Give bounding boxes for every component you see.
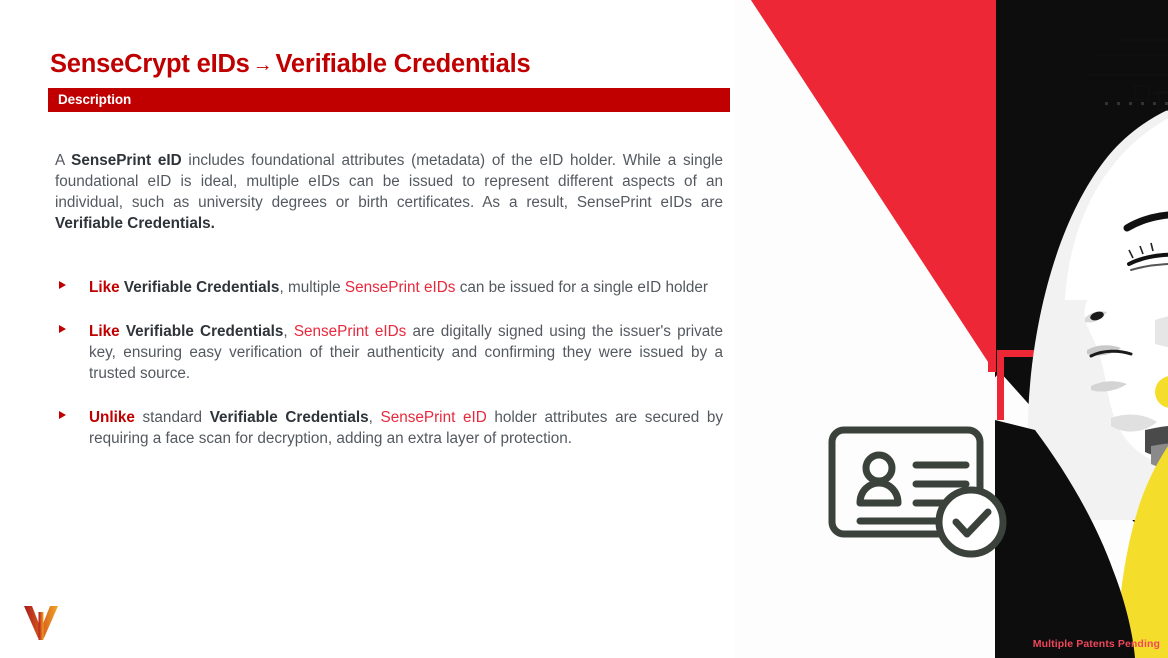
- bullet-brand-term: SensePrint eIDs: [294, 323, 406, 340]
- para-seg-1: A: [55, 152, 71, 169]
- content-area: SenseCrypt eIDs→Verifiable Credentials D…: [0, 0, 735, 658]
- bullet-brand-term: SensePrint eID: [381, 409, 487, 426]
- description-paragraph: A SensePrint eID includes foundational a…: [55, 150, 723, 234]
- patents-pending-note: Multiple Patents Pending: [1033, 638, 1160, 650]
- red-accent-stripe: [988, 0, 996, 372]
- bullet-seg-3: can be issued for a single eID holder: [455, 279, 708, 296]
- bullet-seg-2: , multiple: [279, 279, 344, 296]
- bullet-seg-1: standard: [135, 409, 210, 426]
- bullet-bold-1: Verifiable Credentials: [124, 279, 280, 296]
- list-item: Like Verifiable Credentials, multiple Se…: [55, 277, 723, 298]
- section-header-bar: Description: [48, 88, 730, 112]
- para-bold-1: SensePrint eID: [71, 152, 182, 169]
- brand-logo-icon: [20, 602, 62, 642]
- arrow-icon: →: [250, 54, 276, 76]
- bullet-keyword: Like: [89, 279, 120, 296]
- bullet-triangle-icon: [59, 325, 66, 333]
- bullet-triangle-icon: [59, 281, 66, 289]
- slide-canvas: SenseCrypt eIDs→Verifiable Credentials D…: [0, 0, 1168, 658]
- bullet-bold-1: Verifiable Credentials: [210, 409, 369, 426]
- bullet-seg-2: ,: [369, 409, 381, 426]
- bullet-bold-1: Verifiable Credentials: [126, 323, 284, 340]
- bullet-triangle-icon: [59, 411, 66, 419]
- page-title-part2: Verifiable Credentials: [275, 50, 530, 78]
- bullet-seg-2: ,: [283, 323, 293, 340]
- list-item: Like Verifiable Credentials, SensePrint …: [55, 321, 723, 384]
- id-card-verified-icon: [826, 420, 1016, 570]
- section-label: Description: [58, 92, 131, 107]
- bullet-list: Like Verifiable Credentials, multiple Se…: [55, 277, 723, 449]
- bullet-keyword: Like: [89, 323, 120, 340]
- para-bold-2: Verifiable Credentials.: [55, 215, 215, 232]
- bullet-brand-term: SensePrint eIDs: [345, 279, 456, 296]
- bullet-keyword: Unlike: [89, 409, 135, 426]
- page-title: SenseCrypt eIDs→Verifiable Credentials: [50, 50, 530, 79]
- page-title-part1: SenseCrypt eIDs: [50, 50, 250, 78]
- list-item: Unlike standard Verifiable Credentials, …: [55, 407, 723, 449]
